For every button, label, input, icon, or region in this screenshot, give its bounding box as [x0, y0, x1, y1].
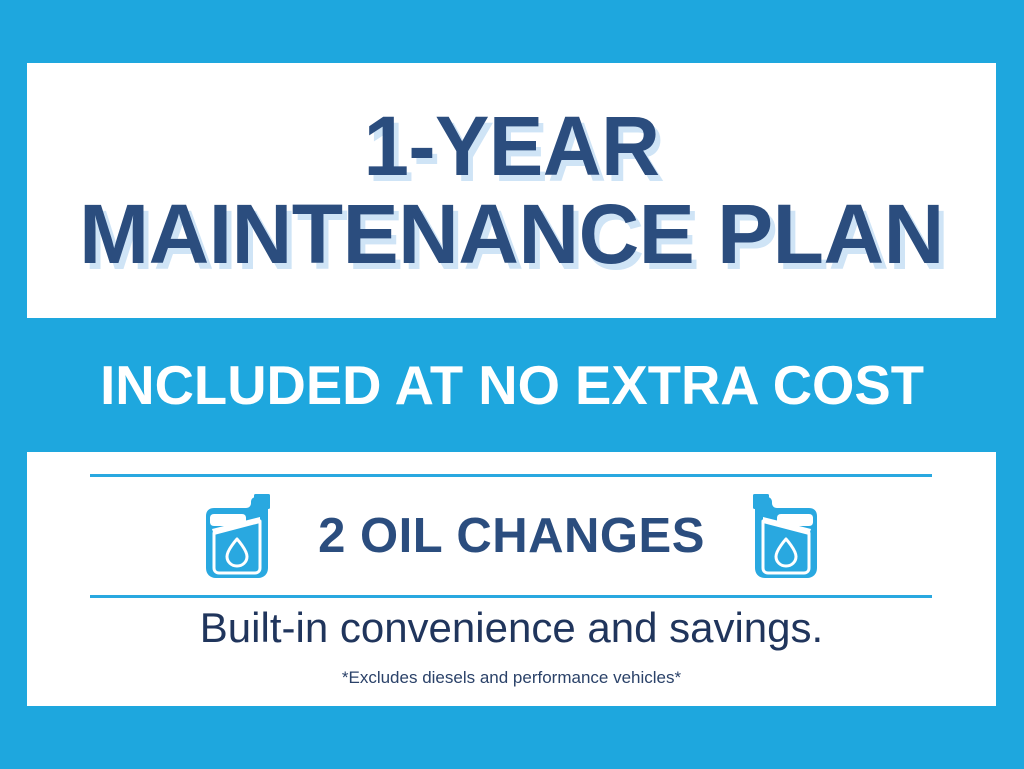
subtitle-text: INCLUDED AT NO EXTRA COST	[100, 353, 924, 417]
oil-changes-label: 2 OIL CHANGES	[318, 508, 705, 564]
tagline-text: Built-in convenience and savings.	[27, 604, 996, 652]
headline-card: 1-YEAR MAINTENANCE PLAN	[27, 63, 996, 318]
headline-line-2: MAINTENANCE PLAN	[79, 194, 944, 275]
headline-line-1: 1-YEAR	[364, 106, 660, 187]
oil-can-icon	[751, 492, 821, 580]
fineprint-text: *Excludes diesels and performance vehicl…	[27, 668, 996, 688]
offer-card: 2 OIL CHANGES Built-in convenience and s…	[27, 452, 996, 706]
divider-bottom	[90, 595, 932, 598]
oil-changes-row: 2 OIL CHANGES	[27, 477, 996, 595]
oil-can-icon	[202, 492, 272, 580]
subtitle-band: INCLUDED AT NO EXTRA COST	[0, 318, 1024, 452]
promo-poster: 1-YEAR MAINTENANCE PLAN INCLUDED AT NO E…	[0, 0, 1024, 769]
